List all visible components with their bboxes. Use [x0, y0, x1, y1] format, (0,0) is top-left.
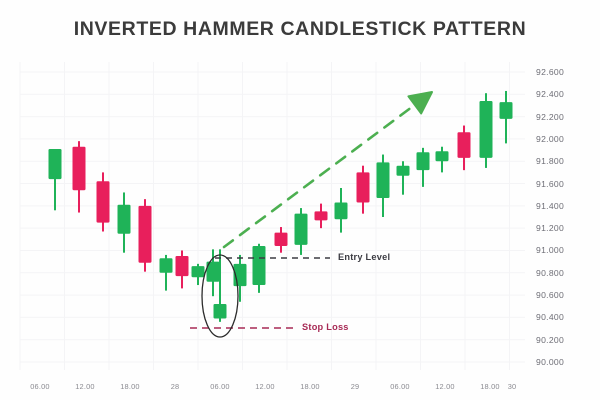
y-axis-tick-label: 90.800 [536, 268, 564, 278]
y-axis-tick-label: 92.200 [536, 112, 564, 122]
plot-area [0, 0, 600, 400]
x-axis-tick-label: 12.00 [435, 382, 455, 391]
y-axis-tick-label: 91.200 [536, 223, 564, 233]
x-axis-tick-label: 28 [171, 382, 180, 391]
y-axis-tick-label: 90.200 [536, 335, 564, 345]
y-axis-tick-label: 91.800 [536, 156, 564, 166]
stop-loss-label: Stop Loss [302, 322, 349, 332]
x-axis-tick-label: 18.00 [120, 382, 140, 391]
y-axis-tick-label: 90.000 [536, 357, 564, 367]
y-axis-tick-label: 92.600 [536, 67, 564, 77]
x-axis-tick-label: 12.00 [255, 382, 275, 391]
x-axis-tick-label: 12.00 [75, 382, 95, 391]
inverted-hammer-highlight-ellipse [202, 255, 238, 337]
x-axis-tick-label: 06.00 [210, 382, 230, 391]
uptrend-arrow-head [408, 92, 432, 113]
x-axis-tick-label: 18.00 [480, 382, 500, 391]
y-axis-tick-label: 92.000 [536, 134, 564, 144]
y-axis-tick-label: 90.600 [536, 290, 564, 300]
y-axis-tick-label: 90.400 [536, 312, 564, 322]
uptrend-arrow-shaft [224, 98, 424, 247]
x-axis-tick-label: 06.00 [30, 382, 50, 391]
entry-level-label: Entry Level [338, 252, 390, 262]
x-axis-tick-label: 06.00 [390, 382, 410, 391]
y-axis-tick-label: 91.000 [536, 245, 564, 255]
x-axis-tick-label: 18.00 [300, 382, 320, 391]
chart-root: INVERTED HAMMER CANDLESTICK PATTERN 92.6… [0, 0, 600, 400]
y-axis-tick-label: 92.400 [536, 89, 564, 99]
y-axis-tick-label: 91.400 [536, 201, 564, 211]
y-axis-tick-label: 91.600 [536, 179, 564, 189]
x-axis-tick-label: 30 [508, 382, 517, 391]
x-axis-tick-label: 29 [351, 382, 360, 391]
annotation-layer [0, 0, 600, 400]
